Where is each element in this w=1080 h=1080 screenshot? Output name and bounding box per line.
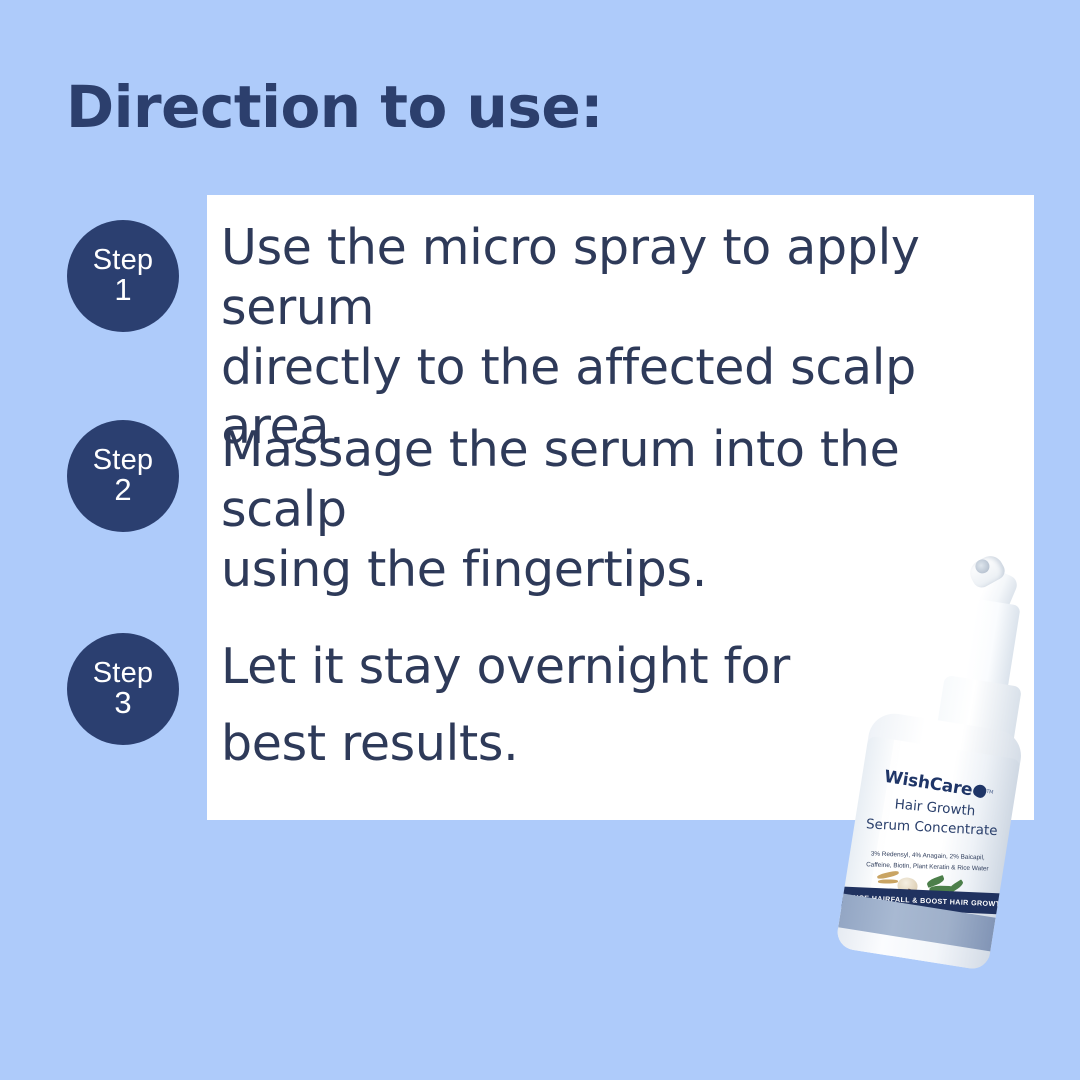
step-badge-2: Step 2 [67,420,179,532]
step-badge-1: Step 1 [67,220,179,332]
wheat-icon [877,870,900,880]
bottle-body: WishCareTM Hair Growth Serum Concentrate… [835,736,1021,971]
step-number-3: 3 [114,687,131,719]
step-badge-3: Step 3 [67,633,179,745]
page-title: Direction to use: [66,78,603,136]
step-number-2: 2 [114,474,131,506]
wheat-icon [878,879,898,883]
step-text-2-line-1: Massage the serum into the scalp [221,420,1021,540]
trademark-symbol: TM [986,789,994,796]
poster-canvas: Direction to use: Step 1 Use the micro s… [0,0,1080,1080]
leaf-icon [972,784,987,799]
step-text-1-line-1: Use the micro spray to apply serum [221,218,1021,338]
step-number-1: 1 [114,274,131,306]
